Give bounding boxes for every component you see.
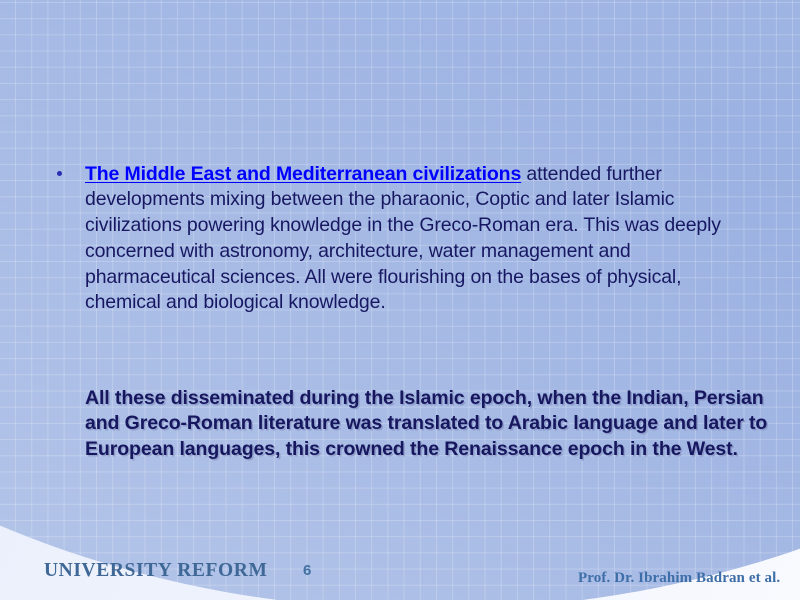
body-text-block: The Middle East and Mediterranean civili…	[48, 142, 738, 336]
lead-hyperlink-text[interactable]: The Middle East and Mediterranean civili…	[85, 163, 521, 185]
slide-content: The Middle East and Mediterranean civili…	[0, 0, 800, 600]
bullet-paragraph-1: The Middle East and Mediterranean civili…	[48, 162, 738, 317]
footer-author: Prof. Dr. Ibrahim Badran et al.	[578, 570, 780, 587]
paragraph-1-body-text: attended further developments mixing bet…	[85, 163, 721, 314]
footer-title: UNIVERSITY REFORM	[44, 560, 267, 582]
bullet-point-icon	[57, 171, 62, 176]
presentation-slide: The Middle East and Mediterranean civili…	[0, 0, 800, 600]
page-number: 6	[303, 562, 311, 579]
paragraph-2: All these disseminated during the Islami…	[48, 386, 785, 463]
